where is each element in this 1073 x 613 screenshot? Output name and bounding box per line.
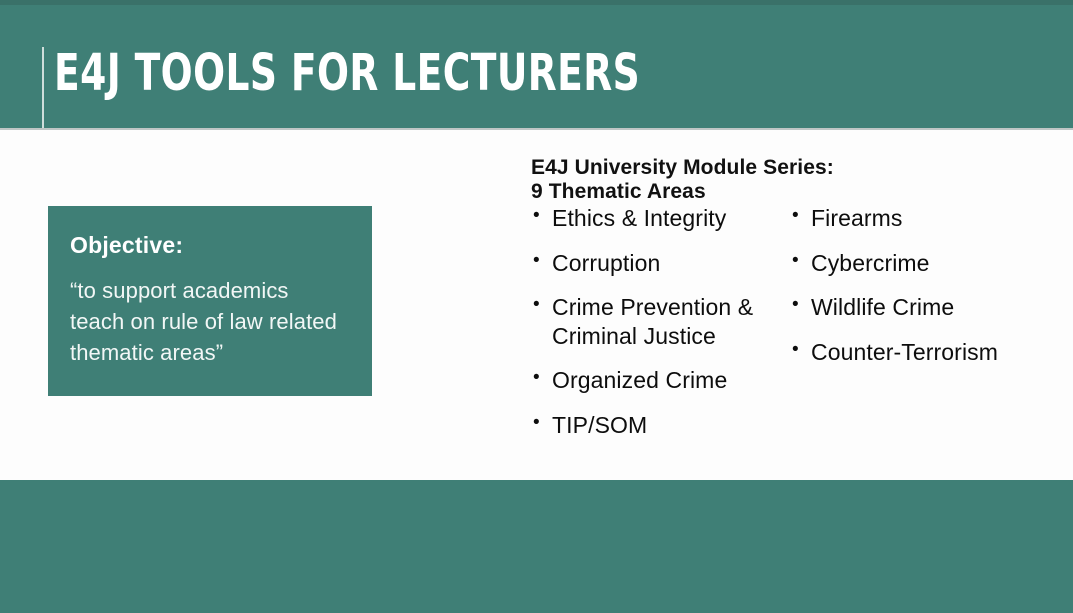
module-series-heading-line1: E4J University Module Series: <box>531 156 834 180</box>
list-item: Crime Prevention & Criminal Justice <box>531 293 793 350</box>
header-underline <box>0 128 1073 130</box>
page-title: E4J TOOLS FOR LECTURERS <box>54 46 640 102</box>
module-series-heading: E4J University Module Series: 9 Thematic… <box>531 156 834 203</box>
title-accent-rule <box>42 47 44 129</box>
thematic-areas-left-column: Ethics & Integrity Corruption Crime Prev… <box>531 204 793 455</box>
list-item: Ethics & Integrity <box>531 204 793 233</box>
thematic-areas-right-column: Firearms Cybercrime Wildlife Crime Count… <box>790 204 1060 382</box>
list-item: Firearms <box>790 204 1060 233</box>
list-item: Corruption <box>531 249 793 278</box>
objective-box: Objective: “to support academics teach o… <box>48 206 372 396</box>
list-item: Organized Crime <box>531 366 793 395</box>
module-tiles-container: Integrity and Ethics Anti-Corruption Cri… <box>0 480 1073 613</box>
header-top-strip <box>0 0 1073 5</box>
objective-quote: “to support academics teach on rule of l… <box>70 275 348 369</box>
objective-heading: Objective: <box>70 232 348 259</box>
list-item: Cybercrime <box>790 249 1060 278</box>
list-item: Counter-Terrorism <box>790 338 1060 367</box>
slide-header: E4J TOOLS FOR LECTURERS <box>0 0 1073 128</box>
module-series-heading-line2: 9 Thematic Areas <box>531 180 834 204</box>
slide-canvas: E4J TOOLS FOR LECTURERS Objective: “to s… <box>0 0 1073 613</box>
list-item: TIP/SOM <box>531 411 793 440</box>
list-item: Wildlife Crime <box>790 293 1060 322</box>
